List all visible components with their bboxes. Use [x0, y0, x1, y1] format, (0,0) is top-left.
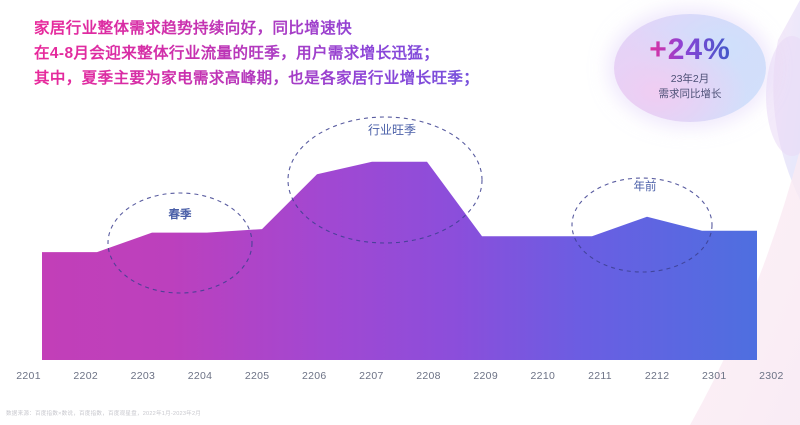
- badge-value: +24%: [649, 35, 731, 65]
- x-axis: 2201 2202 2203 2204 2205 2206 2207 2208 …: [0, 370, 800, 390]
- x-axis-tick: 2206: [286, 370, 343, 390]
- x-axis-tick: 2208: [400, 370, 457, 390]
- x-axis-tick: 2204: [171, 370, 228, 390]
- x-axis-tick: 2201: [0, 370, 57, 390]
- growth-badge: +24% 23年2月 需求同比增长: [614, 14, 766, 122]
- x-axis-tick: 2302: [743, 370, 800, 390]
- x-axis-tick: 2301: [686, 370, 743, 390]
- x-axis-tick: 2210: [514, 370, 571, 390]
- x-axis-tick: 2211: [571, 370, 628, 390]
- headline-block: 家居行业整体需求趋势持续向好，同比增速快 在4-8月会迎来整体行业流量的旺季，用…: [34, 16, 594, 91]
- badge-sub-line-2: 需求同比增长: [659, 87, 722, 101]
- headline-line-3: 其中，夏季主要为家电需求高峰期，也是各家居行业增长旺季；: [34, 66, 594, 91]
- x-axis-tick: 2207: [343, 370, 400, 390]
- badge-sub-line-1: 23年2月: [671, 72, 710, 86]
- headline-line-1: 家居行业整体需求趋势持续向好，同比增速快: [34, 16, 594, 41]
- annotation-label-pre-new-year: 年前: [634, 179, 657, 193]
- headline-line-2: 在4-8月会迎来整体行业流量的旺季，用户需求增长迅猛；: [34, 41, 594, 66]
- x-axis-tick: 2205: [229, 370, 286, 390]
- annotation-label-spring: 春季: [169, 207, 192, 221]
- source-footnote: 数据来源：百度指数×数说，百度指数，百度观星盘，2022年1月-2023年2月: [6, 409, 201, 417]
- x-axis-tick: 2203: [114, 370, 171, 390]
- annotation-label-peak-season: 行业旺季: [368, 123, 416, 137]
- x-axis-tick: 2209: [457, 370, 514, 390]
- x-axis-tick: 2212: [629, 370, 686, 390]
- x-axis-tick: 2202: [57, 370, 114, 390]
